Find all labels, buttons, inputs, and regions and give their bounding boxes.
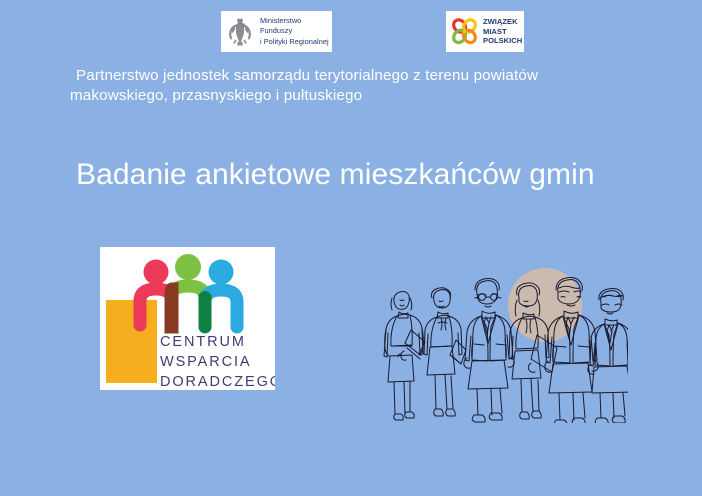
zmp-rings-icon [449, 16, 480, 47]
ministry-logo-text: Ministerstwo Funduszy i Polityki Regiona… [260, 16, 329, 47]
zmp-logo-text: ZWIĄZEK MIAST POLSKICH [483, 17, 522, 46]
zmp-logo: ZWIĄZEK MIAST POLSKICH [446, 11, 524, 52]
logo-strip: Ministerstwo Funduszy i Polityki Regiona… [0, 0, 702, 60]
person-figure-6 [588, 289, 628, 424]
svg-text:DORADCZEGO: DORADCZEGO [160, 374, 275, 390]
page-title: Badanie ankietowe mieszkańców gmin [76, 155, 676, 195]
svg-text:WSPARCIA: WSPARCIA [160, 354, 251, 370]
cwd-orange-block [106, 300, 157, 383]
polish-eagle-emblem-icon [225, 15, 255, 49]
ministry-line-1: Ministerstwo [260, 16, 329, 26]
zmp-line-1: ZWIĄZEK [483, 17, 522, 27]
svg-text:CENTRUM: CENTRUM [160, 334, 246, 350]
zmp-line-3: POLSKICH [483, 36, 522, 46]
people-illustration [378, 268, 628, 423]
person-figure-1 [384, 292, 425, 421]
zmp-line-2: MIAST [483, 27, 522, 37]
ministry-logo: Ministerstwo Funduszy i Polityki Regiona… [221, 11, 332, 52]
person-figure-2 [424, 288, 466, 416]
cwd-logo: CENTRUM WSPARCIA DORADCZEGO [100, 247, 275, 390]
ministry-line-3: i Polityki Regionalnej [260, 37, 329, 47]
person-figure-3 [464, 279, 514, 423]
partnership-subtitle: Partnerstwo jednostek samorządu terytori… [70, 66, 630, 106]
cwd-logo-text: CENTRUM WSPARCIA DORADCZEGO [160, 334, 275, 390]
highlight-circle [508, 268, 582, 342]
ministry-line-2: Funduszy [260, 26, 329, 36]
